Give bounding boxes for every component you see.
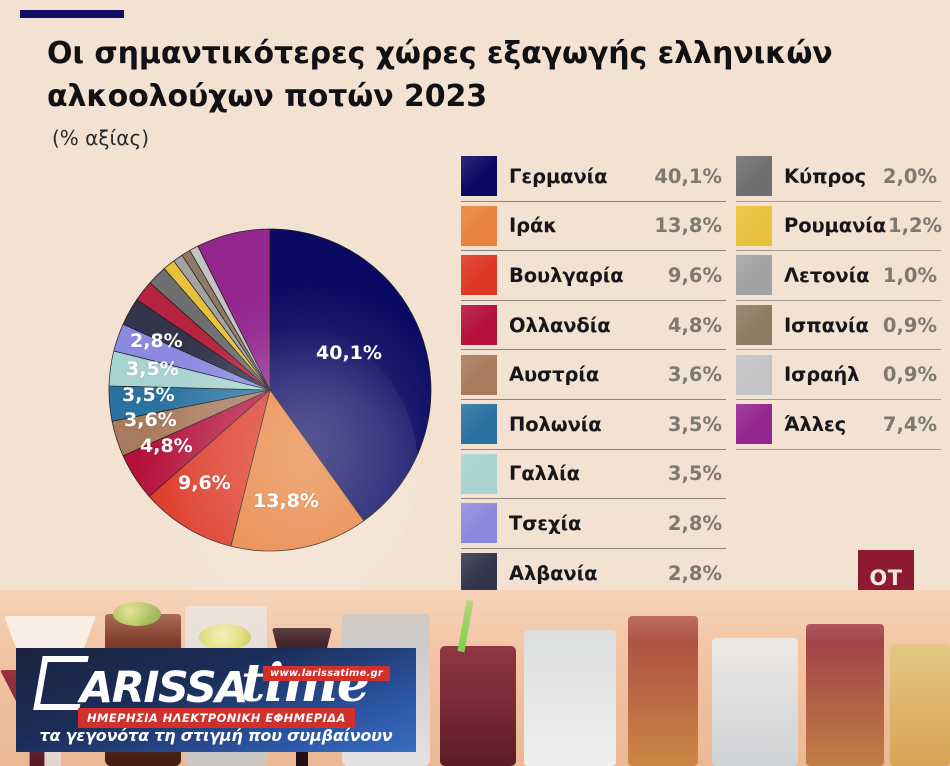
legend-country-label: Γαλλία (509, 462, 656, 485)
legend-value: 3,5% (656, 462, 726, 485)
legend-row[interactable]: Γερμανία40,1% (461, 152, 726, 202)
legend-color-swatch (736, 355, 772, 395)
legend-row[interactable]: Τσεχία2,8% (461, 499, 726, 549)
legend-color-swatch (461, 305, 497, 345)
legend-color-swatch (461, 454, 497, 494)
pie-slice-label-2: 13,8% (253, 490, 319, 512)
legend-row[interactable]: Ρουμανία1,2% (736, 202, 941, 252)
legend-row[interactable]: Άλλες7,4% (736, 400, 941, 450)
legend-color-swatch (736, 255, 772, 295)
legend-column-right: Κύπρος2,0%Ρουμανία1,2%Λετονία1,0%Ισπανία… (736, 152, 941, 450)
pie-slice-label-3: 9,6% (178, 472, 231, 494)
legend-value: 13,8% (654, 214, 726, 237)
legend-country-label: Ρουμανία (784, 214, 886, 237)
pie-slice-label-6: 3,5% (122, 384, 175, 406)
legend-row[interactable]: Ισραήλ0,9% (736, 350, 941, 400)
legend-row[interactable]: Αυστρία3,6% (461, 350, 726, 400)
legend-color-swatch (461, 355, 497, 395)
legend-color-swatch (461, 206, 497, 246)
pie-slice-label-5: 3,6% (124, 409, 177, 431)
legend-row[interactable]: Λετονία1,0% (736, 251, 941, 301)
legend-value: 40,1% (654, 165, 726, 188)
logo-tagline: τα γεγονότα τη στιγμή που συμβαίνουν (16, 726, 416, 745)
legend-row[interactable]: Βουλγαρία9,6% (461, 251, 726, 301)
logo-subtitle-strip: ΗΜΕΡΗΣΙΑ ΗΛΕΚΤΡΟΝΙΚΗ ΕΦΗΜΕΡΙΔΑ (78, 708, 355, 728)
legend-value: 1,2% (886, 214, 946, 237)
legend-value: 0,9% (881, 314, 941, 337)
legend-country-label: Αυστρία (509, 363, 656, 386)
legend-country-label: Ιράκ (509, 214, 654, 237)
page-title: Οι σημαντικότερες χώρες εξαγωγής ελληνικ… (47, 33, 837, 118)
legend-country-label: Τσεχία (509, 512, 656, 535)
legend-color-swatch (461, 553, 497, 593)
legend-value: 3,5% (656, 413, 726, 436)
legend-value: 0,9% (881, 363, 941, 386)
legend-color-swatch (461, 156, 497, 196)
pie-slice-label-7: 3,5% (126, 358, 179, 380)
legend-color-swatch (461, 404, 497, 444)
legend-country-label: Κύπρος (784, 165, 881, 188)
infographic-canvas: Οι σημαντικότερες χώρες εξαγωγής ελληνικ… (0, 0, 950, 766)
legend-country-label: Βουλγαρία (509, 264, 656, 287)
legend-country-label: Ισπανία (784, 314, 881, 337)
legend-country-label: Γερμανία (509, 165, 654, 188)
legend-country-label: Ολλανδία (509, 314, 656, 337)
legend-row[interactable]: Ισπανία0,9% (736, 301, 941, 351)
legend-column-left: Γερμανία40,1%Ιράκ13,8%Βουλγαρία9,6%Ολλαν… (461, 152, 726, 648)
pie-slice-label-1: 40,1% (316, 342, 382, 364)
legend-value: 2,8% (656, 512, 726, 535)
logo-l-mark (33, 656, 89, 710)
logo-larissa-text: ARISSA (80, 667, 247, 710)
legend-value: 7,4% (881, 413, 941, 436)
legend-row[interactable]: Ολλανδία4,8% (461, 301, 726, 351)
legend-country-label: Ισραήλ (784, 363, 881, 386)
legend-value: 2,0% (881, 165, 941, 188)
legend-value: 3,6% (656, 363, 726, 386)
legend-country-label: Άλλες (784, 413, 881, 436)
legend-row[interactable]: Ιράκ13,8% (461, 202, 726, 252)
accent-bar (20, 10, 124, 18)
logo-wordmark: ARISSA time (38, 656, 369, 710)
legend-value: 9,6% (656, 264, 726, 287)
legend-color-swatch (461, 503, 497, 543)
pie-slice-label-4: 4,8% (140, 435, 193, 457)
legend-country-label: Λετονία (784, 264, 881, 287)
legend-value: 1,0% (881, 264, 941, 287)
legend-row[interactable]: Πολωνία3,5% (461, 400, 726, 450)
legend-color-swatch (736, 206, 772, 246)
legend-row[interactable]: Κύπρος2,0% (736, 152, 941, 202)
page-subtitle: (% αξίας) (52, 126, 149, 150)
legend-color-swatch (736, 305, 772, 345)
legend-value: 2,8% (656, 562, 726, 585)
legend-color-swatch (736, 404, 772, 444)
legend-value: 4,8% (656, 314, 726, 337)
legend-color-swatch (736, 156, 772, 196)
legend-color-swatch (461, 255, 497, 295)
logo-url[interactable]: www.larissatime.gr (263, 666, 390, 681)
legend-row[interactable]: Γαλλία3,5% (461, 450, 726, 500)
larissatime-logo[interactable]: ARISSA time www.larissatime.gr ΗΜΕΡΗΣΙΑ … (16, 648, 416, 752)
legend-country-label: Αλβανία (509, 562, 656, 585)
legend-country-label: Πολωνία (509, 413, 656, 436)
pie-slice-label-8: 2,8% (130, 330, 183, 352)
